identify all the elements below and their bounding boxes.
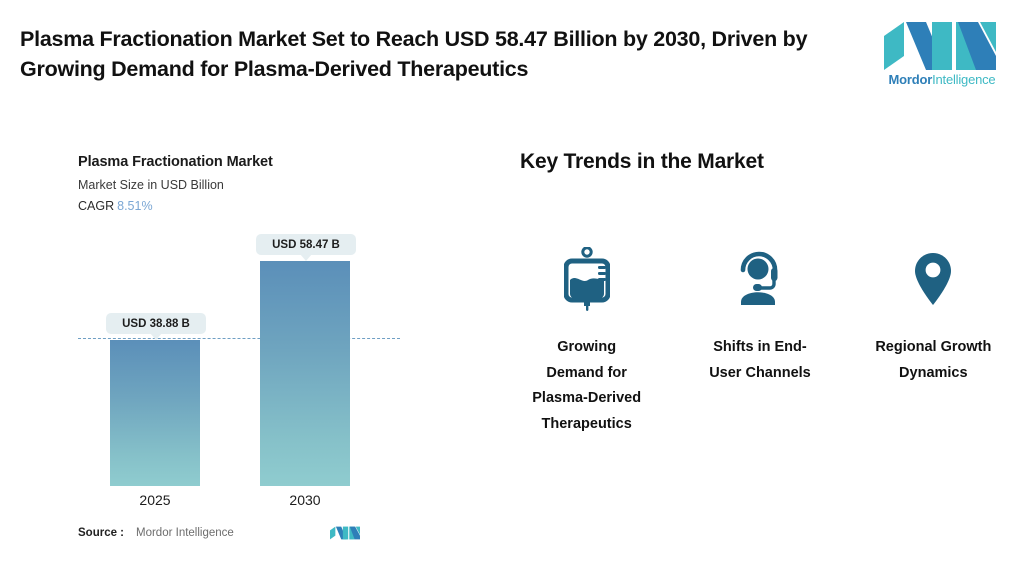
iv-bag-icon	[564, 245, 610, 313]
bar-value-callout-2030: USD 58.47 B	[256, 234, 356, 255]
source-label: Source :	[78, 527, 124, 539]
support-agent-icon	[731, 245, 789, 313]
brand-wordmark-bold: Mordor	[889, 72, 933, 87]
page-title: Plasma Fractionation Market Set to Reach…	[20, 24, 860, 84]
mordor-logo-mark	[884, 22, 996, 70]
source-value: Mordor Intelligence	[136, 527, 234, 539]
map-pin-icon	[913, 245, 953, 313]
brand-wordmark: MordorIntelligence	[876, 72, 1008, 87]
key-trends-heading: Key Trends in the Market	[520, 150, 764, 174]
reference-dashed-line	[78, 338, 400, 339]
key-trends-panel: Key Trends in the Market	[500, 140, 1020, 540]
chart-panel: Plasma Fractionation Market Market Size …	[60, 140, 460, 560]
x-axis-label-2025: 2025	[110, 492, 200, 508]
trend-item-1: Growing Demand for Plasma-Derived Therap…	[512, 245, 662, 437]
bar-value-callout-2025: USD 38.88 B	[106, 313, 206, 334]
trend-label-3: Regional Growth Dynamics	[874, 335, 992, 386]
brand-logo: MordorIntelligence	[876, 22, 1008, 94]
trend-item-3: Regional Growth Dynamics	[858, 245, 1008, 386]
page-header: Plasma Fractionation Market Set to Reach…	[0, 0, 1026, 112]
key-trends-list: Growing Demand for Plasma-Derived Therap…	[500, 245, 1020, 437]
bar-2025	[110, 340, 200, 486]
brand-wordmark-light: Intelligence	[932, 72, 995, 87]
chart-source: Source : Mordor Intelligence	[78, 525, 388, 545]
bar-chart-plot: USD 38.88 B USD 58.47 B 2025 2030	[60, 140, 460, 560]
source-logo-mark	[330, 525, 360, 541]
trend-label-2: Shifts in End-User Channels	[701, 335, 819, 386]
trend-item-2: Shifts in End-User Channels	[685, 245, 835, 386]
bar-2030	[260, 261, 350, 486]
x-axis-label-2030: 2030	[260, 492, 350, 508]
trend-label-1: Growing Demand for Plasma-Derived Therap…	[528, 335, 646, 437]
